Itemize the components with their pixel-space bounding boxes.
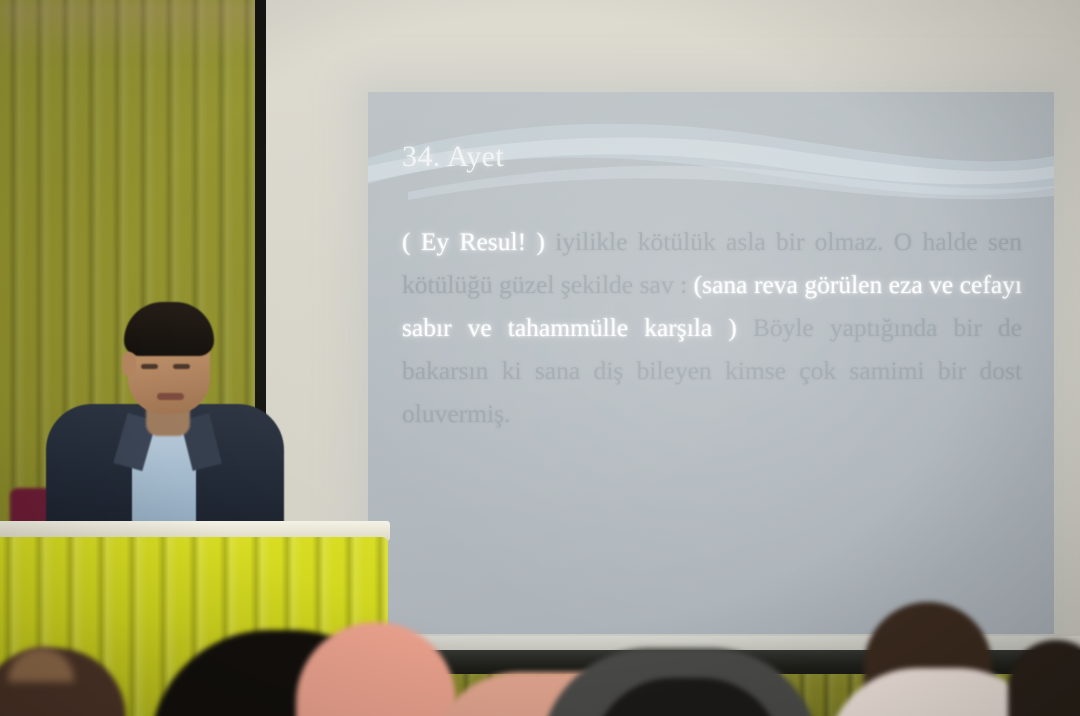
presenter-ear (122, 352, 136, 376)
presenter-eye-right (173, 364, 190, 369)
presenter-eye-left (141, 364, 158, 369)
presenter-hair (124, 302, 214, 356)
presenter-mouth (157, 393, 184, 400)
photo-scene: 34. Ayet ( Ey Resul! ) iyilikle kötülük … (0, 0, 1080, 716)
